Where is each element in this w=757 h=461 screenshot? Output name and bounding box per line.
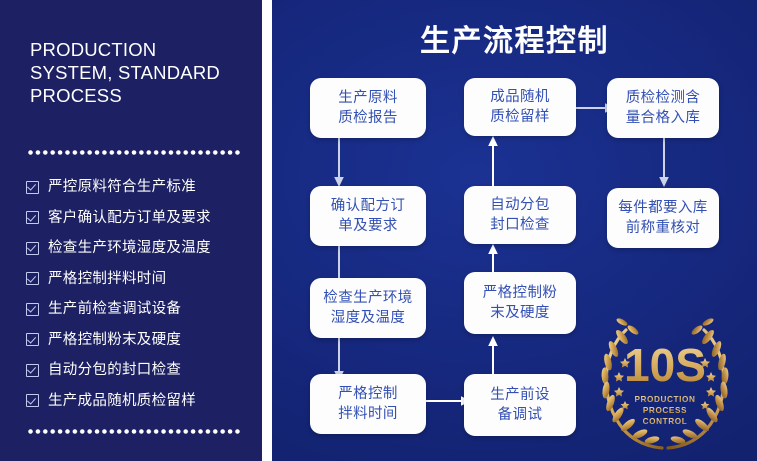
flow-node-n6[interactable]: 每件都要入库 前称重核对 xyxy=(607,188,719,248)
flow-node-n10[interactable]: 生产前设 备调试 xyxy=(464,374,576,436)
flow-node-label: 检查生产环境 湿度及温度 xyxy=(323,288,412,328)
checklist-item[interactable]: 检查生产环境湿度及温度 xyxy=(26,233,251,264)
badge-line1: PRODUCTION xyxy=(634,395,695,404)
badge-line2: PROCESS xyxy=(643,406,687,415)
flow-node-label: 严格控制 拌料时间 xyxy=(338,384,398,424)
flow-node-label: 自动分包 封口检查 xyxy=(490,195,550,235)
check-icon xyxy=(26,303,39,316)
flow-node-n2[interactable]: 成品随机 质检留样 xyxy=(464,78,576,136)
flow-node-label: 成品随机 质检留样 xyxy=(490,87,550,127)
flow-node-n9[interactable]: 严格控制 拌料时间 xyxy=(310,374,426,434)
badge-main-text: 10S xyxy=(624,339,706,391)
arrow-n3-to-n6 xyxy=(657,138,671,188)
right-panel: 生产流程控制 xyxy=(272,0,757,461)
checklist-item[interactable]: 严控原料符合生产标准 xyxy=(26,172,251,203)
flow-node-n4[interactable]: 确认配方订 单及要求 xyxy=(310,186,426,246)
check-icon xyxy=(26,181,39,194)
flow-node-n8[interactable]: 严格控制粉 末及硬度 xyxy=(464,272,576,334)
badge-line3: CONTROL xyxy=(643,417,688,426)
check-icon xyxy=(26,242,39,255)
checklist-item[interactable]: 生产成品随机质检留样 xyxy=(26,386,251,417)
checklist-item[interactable]: 严格控制粉末及硬度 xyxy=(26,325,251,356)
checklist-item-label: 生产成品随机质检留样 xyxy=(48,392,196,410)
flow-node-n5[interactable]: 自动分包 封口检查 xyxy=(464,186,576,244)
panel-divider xyxy=(262,0,272,461)
arrow-n5-to-n2 xyxy=(486,136,500,186)
check-icon xyxy=(26,333,39,346)
checklist-item-label: 严格控制拌料时间 xyxy=(48,270,166,288)
checklist-item[interactable]: 严格控制拌料时间 xyxy=(26,264,251,295)
badge-10s: 10S PRODUCTION PROCESS CONTROL xyxy=(592,308,738,454)
flow-node-n3[interactable]: 质检检测含 量合格入库 xyxy=(607,78,719,138)
checklist-item[interactable]: 自动分包的封口检查 xyxy=(26,355,251,386)
checklist-item-label: 检查生产环境湿度及温度 xyxy=(48,239,211,257)
flow-node-n7[interactable]: 检查生产环境 湿度及温度 xyxy=(310,278,426,338)
flow-node-n1[interactable]: 生产原料 质检报告 xyxy=(310,78,426,138)
left-panel: PRODUCTION SYSTEM, STANDARD PROCESS 严控原料… xyxy=(0,0,262,461)
check-icon xyxy=(26,211,39,224)
checklist-item-label: 客户确认配方订单及要求 xyxy=(48,209,211,227)
checklist-item-label: 严控原料符合生产标准 xyxy=(48,178,196,196)
left-panel-title: PRODUCTION SYSTEM, STANDARD PROCESS xyxy=(30,38,245,107)
checklist-item[interactable]: 生产前检查调试设备 xyxy=(26,294,251,325)
flow-node-label: 质检检测含 量合格入库 xyxy=(626,88,701,128)
checklist-item-label: 严格控制粉末及硬度 xyxy=(48,331,181,349)
flow-node-label: 严格控制粉 末及硬度 xyxy=(483,283,558,323)
checklist-item[interactable]: 客户确认配方订单及要求 xyxy=(26,203,251,234)
flowchart-title: 生产流程控制 xyxy=(272,16,757,60)
flow-node-label: 确认配方订 单及要求 xyxy=(331,196,406,236)
checklist-item-label: 自动分包的封口检查 xyxy=(48,361,181,379)
check-icon xyxy=(26,272,39,285)
check-icon xyxy=(26,364,39,377)
dotted-divider-bottom xyxy=(28,429,240,434)
checklist-item-label: 生产前检查调试设备 xyxy=(48,300,181,318)
poster-root: PRODUCTION SYSTEM, STANDARD PROCESS 严控原料… xyxy=(0,0,757,461)
flow-node-label: 每件都要入库 前称重核对 xyxy=(618,198,707,238)
check-icon xyxy=(26,394,39,407)
arrow-n1-to-n4 xyxy=(332,138,346,188)
flow-node-label: 生产原料 质检报告 xyxy=(338,88,398,128)
checklist: 严控原料符合生产标准 客户确认配方订单及要求 检查生产环境湿度及温度 严格控制拌… xyxy=(26,172,251,416)
dotted-divider-top xyxy=(28,150,240,155)
flow-node-label: 生产前设 备调试 xyxy=(490,385,550,425)
